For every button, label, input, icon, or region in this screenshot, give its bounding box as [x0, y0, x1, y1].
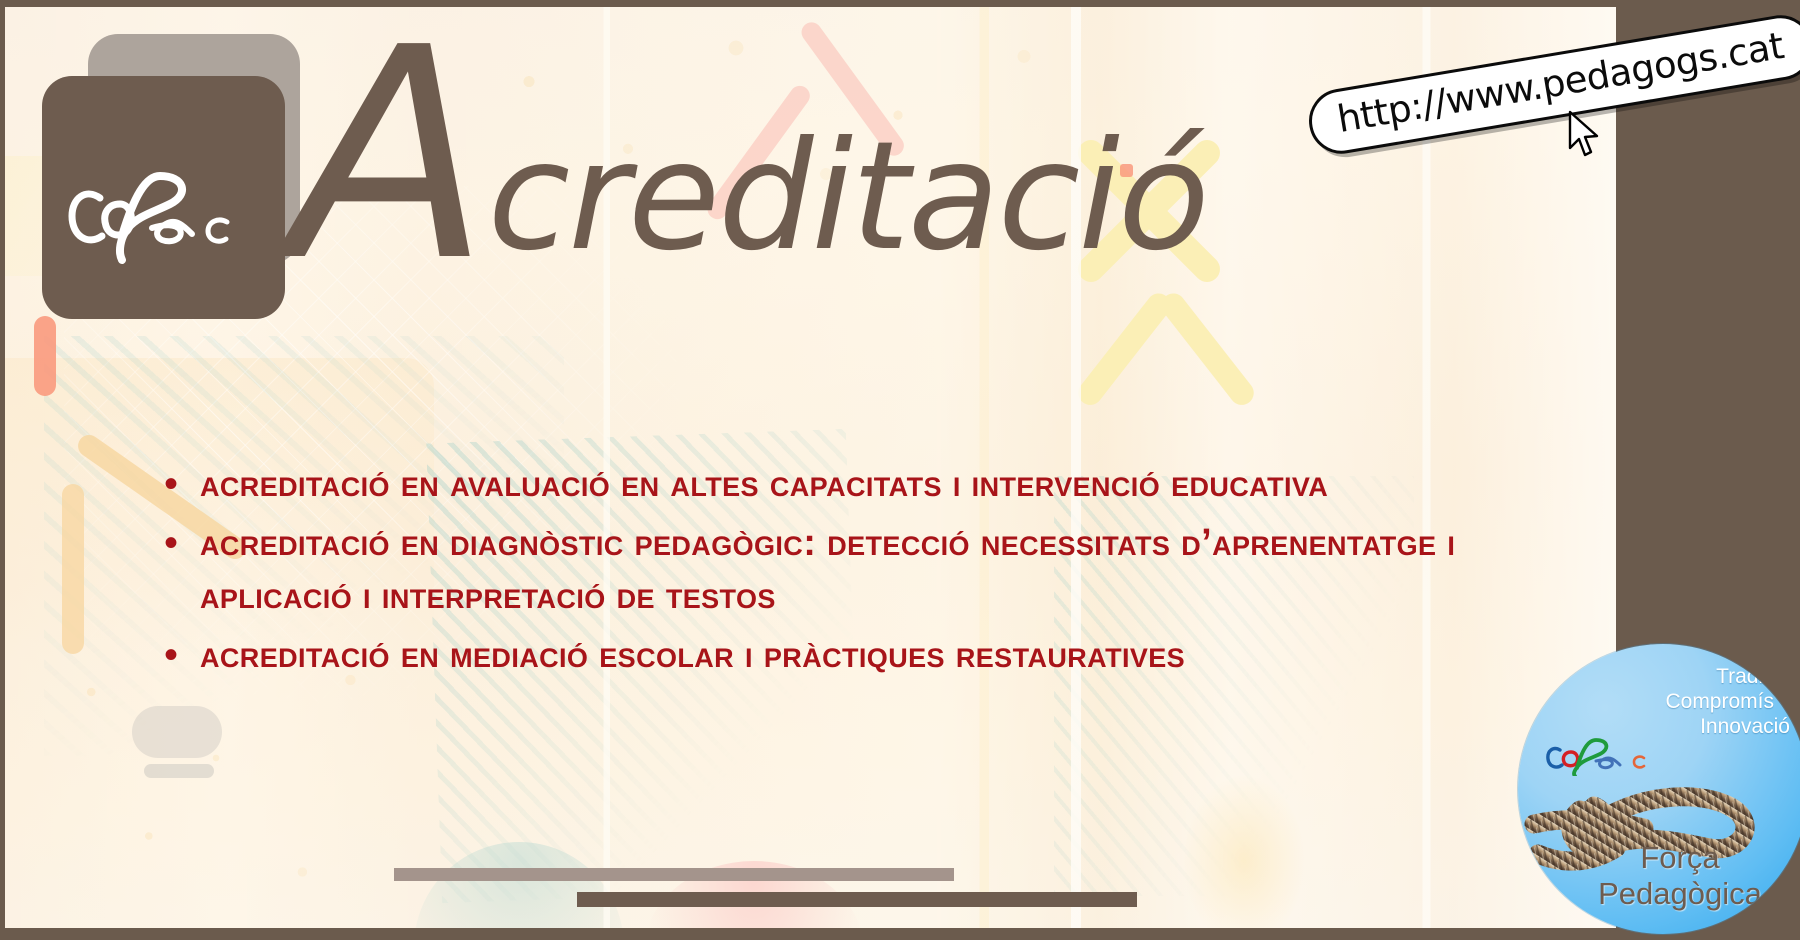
accreditation-list: • Acreditació en Avaluació en Altes Capa…	[164, 458, 1464, 688]
forca-pedagogica-badge[interactable]: Tradició Compromís Innovació	[1518, 644, 1800, 934]
badge-strength-text: Força Pedagògica	[1518, 840, 1800, 912]
list-item: • Acreditació en Avaluació en Altes Capa…	[164, 458, 1464, 511]
background-yellow-chevron	[1049, 296, 1259, 436]
background-grey-bar	[144, 764, 214, 778]
copec-wordmark-icon	[42, 76, 285, 319]
frame-border-left	[0, 0, 5, 940]
background-yellow-ellipse	[1184, 776, 1304, 928]
background-grey-blob	[132, 706, 222, 758]
badge-strength-line-2: Pedagògica	[1552, 876, 1800, 912]
background-orange-ribbon-vertical	[62, 484, 84, 654]
frame-border-bottom	[0, 928, 1800, 940]
page-title-rest: creditació	[488, 110, 1208, 284]
list-item-label: Acreditació en Mediació Escolar i Pràcti…	[200, 629, 1185, 682]
divider-rule-light	[394, 868, 954, 881]
background-coral-bar	[34, 316, 56, 396]
bullet-marker-icon: •	[164, 629, 200, 681]
badge-strength-line-1: Força	[1552, 840, 1800, 876]
bullet-marker-icon: •	[164, 458, 200, 510]
presentation-slide: Acreditació • Acreditació en Avaluació e…	[0, 0, 1800, 940]
list-item-label: Acreditació en Diagnòstic Pedagògic: Det…	[200, 517, 1464, 623]
list-item-label: Acreditació en Avaluació en Altes Capaci…	[200, 458, 1328, 511]
page-title: Acreditació	[290, 42, 1208, 272]
bullet-marker-icon: •	[164, 517, 200, 569]
badge-motto-line-1: Tradició	[1518, 664, 1790, 689]
frame-border-top	[0, 0, 1800, 7]
background-teal-circle	[414, 842, 624, 928]
page-title-initial: A	[290, 6, 488, 325]
mouse-pointer-icon	[1567, 110, 1601, 160]
divider-rule-dark	[577, 892, 1137, 907]
list-item: • Acreditació en Mediació Escolar i Pràc…	[164, 629, 1464, 682]
list-item: • Acreditació en Diagnòstic Pedagògic: D…	[164, 517, 1464, 623]
badge-motto-line-2: Compromís	[1518, 689, 1790, 714]
